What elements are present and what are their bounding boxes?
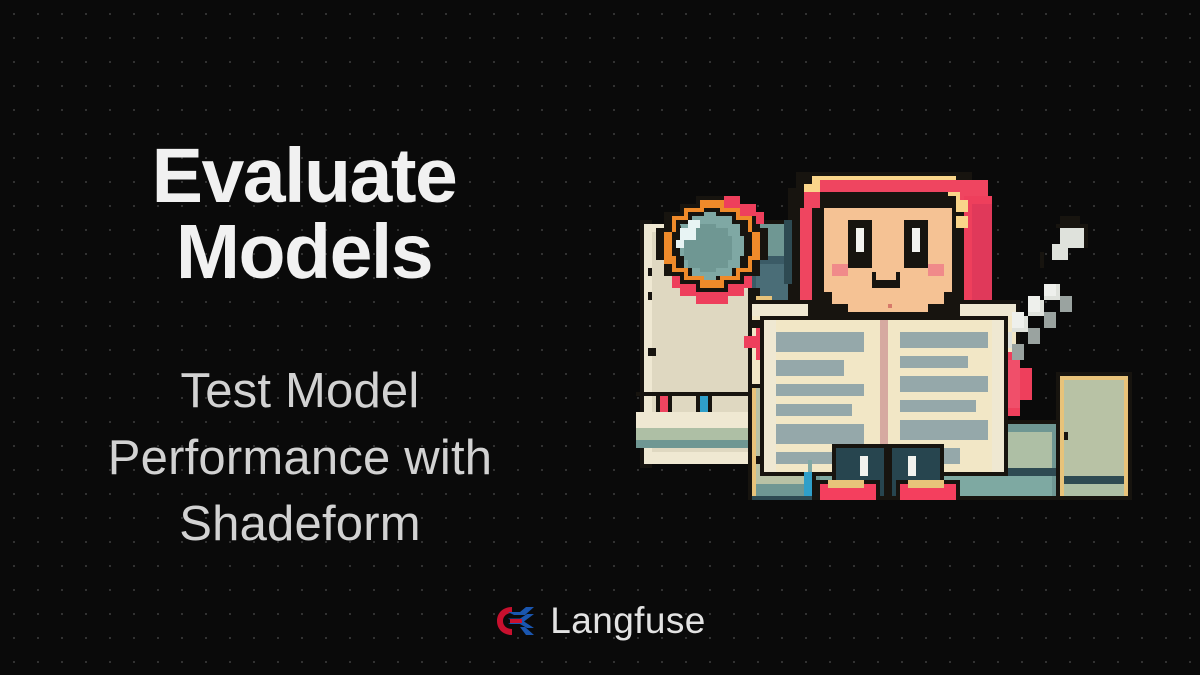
- brand-name: Langfuse: [550, 602, 705, 639]
- langfuse-logo-icon: [494, 604, 536, 638]
- hero-illustration: [612, 140, 1152, 500]
- brand-lockup: Langfuse: [0, 602, 1200, 639]
- hero-text-column: Evaluate Models Test Model Performance w…: [0, 0, 600, 675]
- pixel-art-character-illustration: [612, 140, 1152, 500]
- page-subtitle: Test Model Performance with Shadeform: [0, 358, 600, 558]
- page-title: Evaluate Models: [0, 138, 600, 290]
- poster-background: Evaluate Models Test Model Performance w…: [0, 0, 1200, 675]
